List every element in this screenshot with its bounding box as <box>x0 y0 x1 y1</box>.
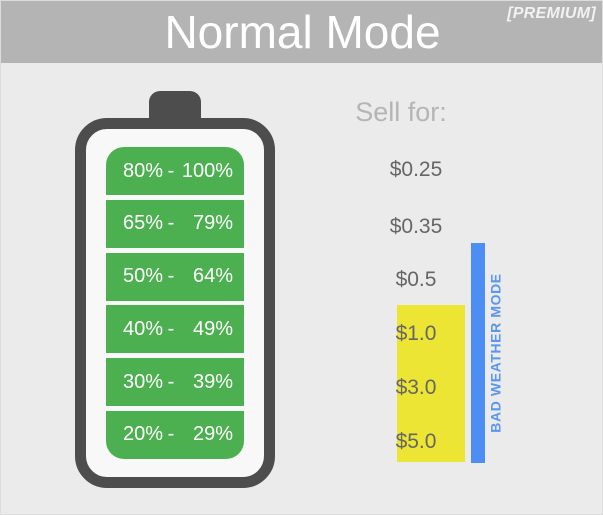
battery-segment: 50% - 64% <box>106 253 244 301</box>
sell-for-heading: Sell for: <box>301 97 501 128</box>
segment-dash: - <box>163 160 179 183</box>
segment-high-value: 49% <box>179 318 233 341</box>
price-item: $1.0 <box>361 322 471 346</box>
price-list: $0.25 $0.35 $0.5 $1.0 $3.0 $5.0 <box>361 147 471 467</box>
segment-dash: - <box>163 265 179 288</box>
price-item: $5.0 <box>361 430 471 454</box>
battery-graphic: 80% - 100% 65% - 79% 50% - 64% 40% - <box>75 91 275 491</box>
premium-badge: [PREMIUM] <box>507 5 596 23</box>
battery-segment: 40% - 49% <box>106 305 244 353</box>
segment-high-value: 79% <box>179 212 233 235</box>
header-bar: Normal Mode [PREMIUM] <box>1 1 603 63</box>
app-root: Normal Mode [PREMIUM] 80% - 100% 65% - 7… <box>0 0 603 515</box>
battery-segment-list: 80% - 100% 65% - 79% 50% - 64% 40% - <box>97 140 253 466</box>
price-item: $3.0 <box>361 376 471 400</box>
battery-body: 80% - 100% 65% - 79% 50% - 64% 40% - <box>75 118 275 488</box>
segment-low-value: 80% <box>117 160 163 183</box>
battery-segment: 80% - 100% <box>106 147 244 195</box>
segment-high-value: 64% <box>179 265 233 288</box>
segment-low-value: 50% <box>117 265 163 288</box>
price-item: $0.35 <box>361 215 471 239</box>
price-item: $0.5 <box>361 268 471 292</box>
segment-dash: - <box>163 318 179 341</box>
segment-dash: - <box>163 371 179 394</box>
segment-high-value: 100% <box>179 160 233 183</box>
segment-high-value: 39% <box>179 371 233 394</box>
bad-weather-mode-bar <box>471 243 485 463</box>
battery-segment: 65% - 79% <box>106 200 244 248</box>
segment-low-value: 20% <box>117 423 163 446</box>
bad-weather-mode-label-wrap: BAD WEATHER MODE <box>485 243 507 463</box>
segment-low-value: 65% <box>117 212 163 235</box>
battery-segment: 30% - 39% <box>106 358 244 406</box>
segment-dash: - <box>163 423 179 446</box>
segment-dash: - <box>163 212 179 235</box>
bad-weather-mode-label: BAD WEATHER MODE <box>488 273 504 432</box>
segment-high-value: 29% <box>179 423 233 446</box>
segment-low-value: 40% <box>117 318 163 341</box>
price-item: $0.25 <box>361 158 471 182</box>
battery-segment: 20% - 29% <box>106 411 244 459</box>
segment-low-value: 30% <box>117 371 163 394</box>
